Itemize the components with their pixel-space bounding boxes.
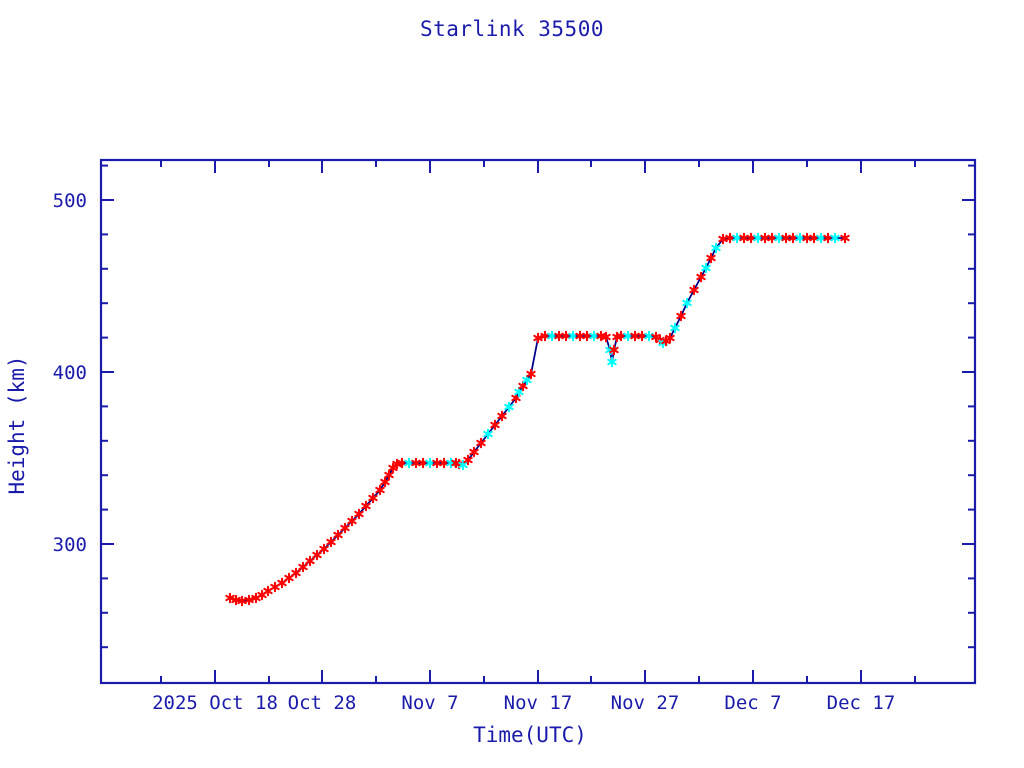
x-tick-label: Nov 17 bbox=[504, 692, 573, 714]
chart-title: Starlink 35500 bbox=[420, 17, 604, 41]
x-tick-label: Dec 7 bbox=[724, 692, 781, 714]
data-point-marker bbox=[671, 324, 678, 332]
data-series-group bbox=[226, 234, 848, 605]
series-line bbox=[230, 238, 845, 601]
x-axis-label: Time(UTC) bbox=[473, 723, 587, 747]
x-tick-label: Dec 17 bbox=[827, 692, 896, 714]
data-point-marker bbox=[677, 312, 684, 320]
x-tick-label: Nov 7 bbox=[401, 692, 458, 714]
x-tick-label: Oct 28 bbox=[288, 692, 357, 714]
y-axis-tick-labels: 500400300 bbox=[53, 190, 87, 556]
x-axis-tick-labels: 2025 Oct 18Oct 28Nov 7Nov 17Nov 27Dec 7D… bbox=[152, 692, 895, 714]
chart-container: Starlink 35500 2025 Oct 18Oct 28Nov 7Nov… bbox=[0, 0, 1024, 768]
height-vs-time-plot: Starlink 35500 2025 Oct 18Oct 28Nov 7Nov… bbox=[0, 0, 1024, 768]
y-tick-label: 400 bbox=[53, 362, 87, 384]
x-tick-label: Nov 27 bbox=[611, 692, 680, 714]
data-point-marker bbox=[271, 583, 278, 591]
data-point-marker bbox=[608, 358, 615, 366]
y-axis-label: Height (km) bbox=[5, 355, 29, 494]
y-tick-label: 300 bbox=[53, 534, 87, 556]
x-tick-label: 2025 Oct 18 bbox=[152, 692, 278, 714]
y-tick-label: 500 bbox=[53, 190, 87, 212]
data-point-marker bbox=[707, 254, 714, 262]
